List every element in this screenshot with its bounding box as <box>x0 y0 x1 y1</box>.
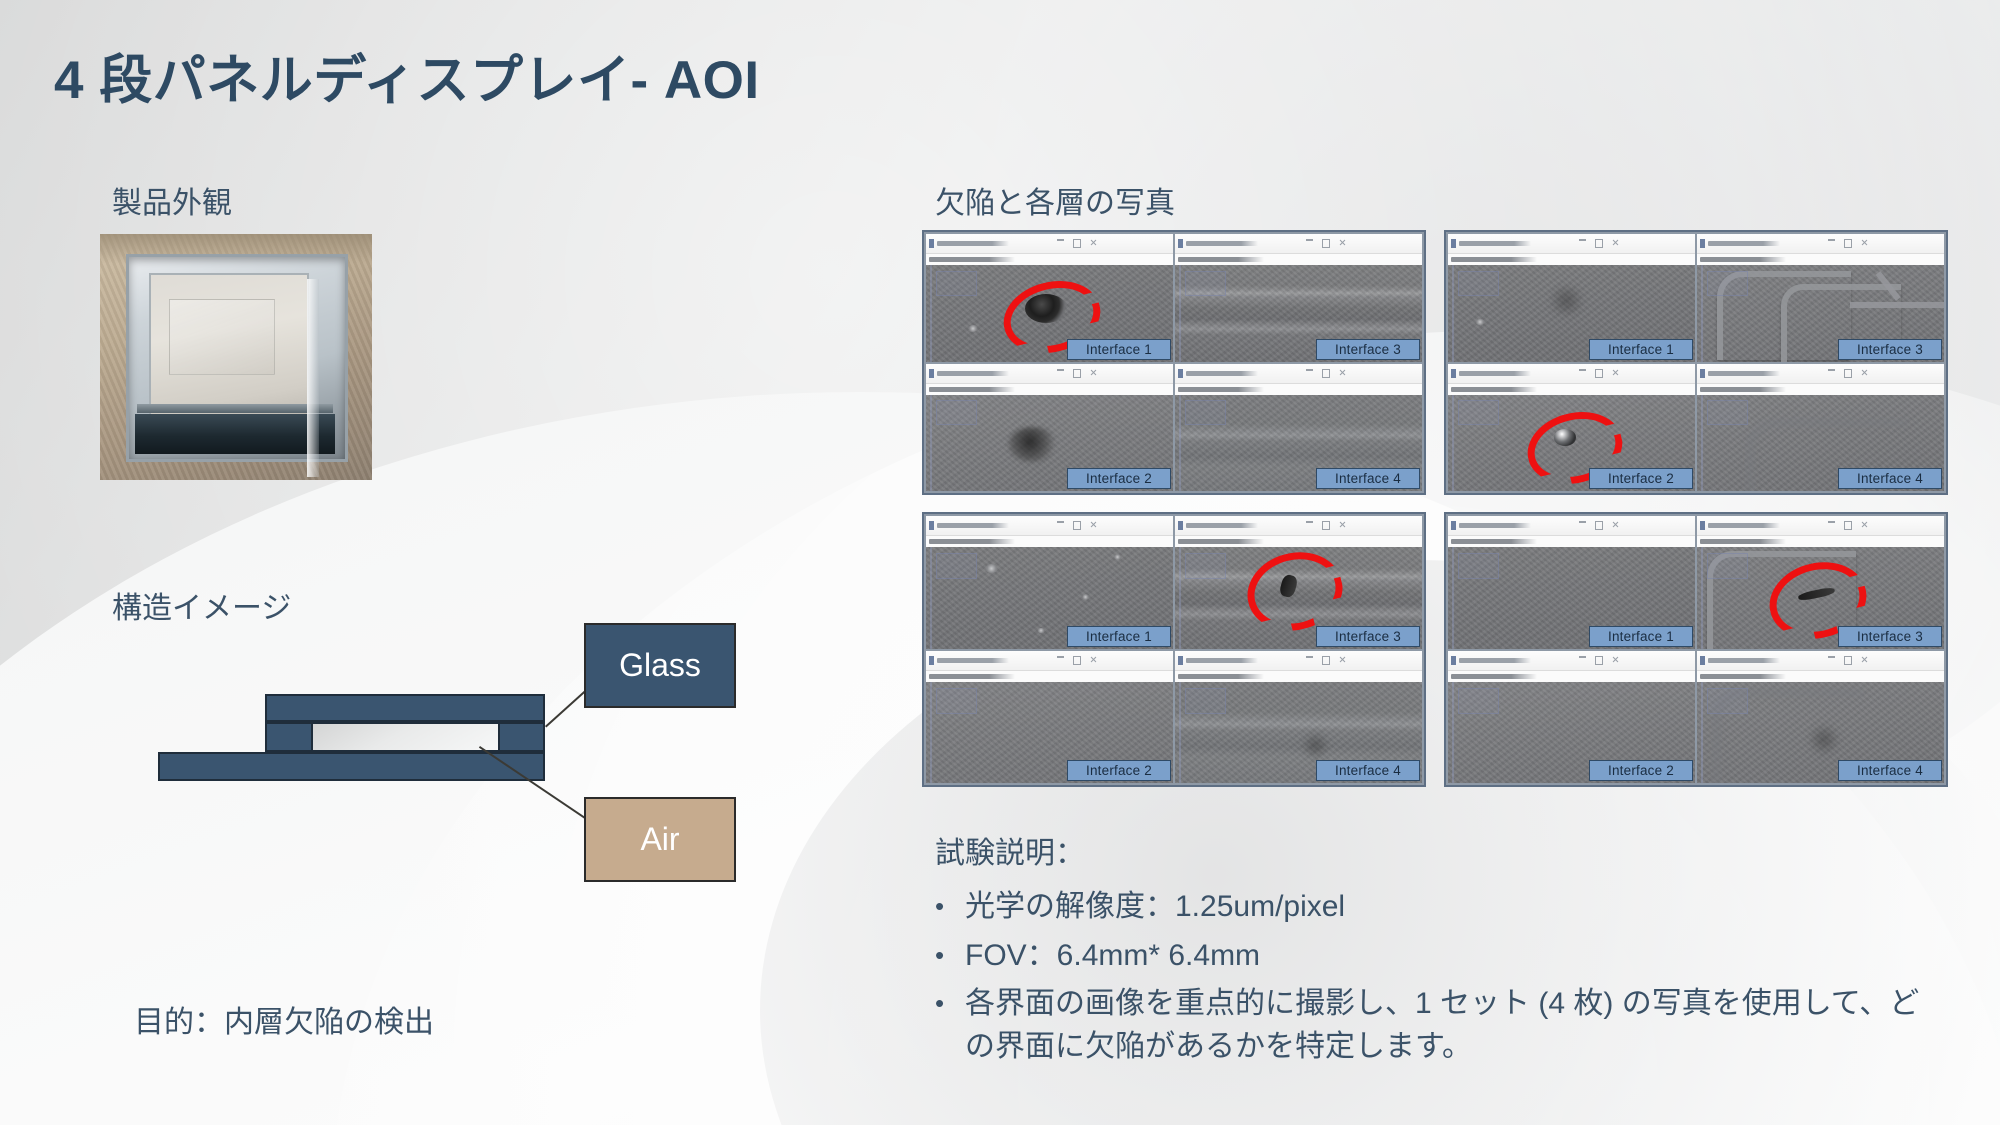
window-controls[interactable] <box>1057 656 1097 665</box>
maximize-icon[interactable] <box>1844 369 1852 378</box>
window-title-text <box>1186 241 1306 246</box>
microscope-window-2-2[interactable]: Interface 2 <box>1448 364 1695 492</box>
interface-tag: Interface 1 <box>1589 626 1693 647</box>
minimize-icon[interactable] <box>1579 239 1586 241</box>
status-text <box>1178 539 1264 544</box>
image-corner-marker <box>1707 688 1749 714</box>
image-left-edge-line <box>1452 682 1454 784</box>
status-text <box>929 674 1015 679</box>
image-left-edge-line <box>1452 265 1454 362</box>
image-left-edge-line <box>1179 682 1181 784</box>
window-title-text <box>937 241 1057 246</box>
image-left-edge-line <box>1701 395 1703 492</box>
window-title-text <box>1708 523 1828 528</box>
window-title-text <box>1459 658 1579 663</box>
window-titlebar <box>1697 364 1944 384</box>
structure-cross-section-diagram <box>150 690 600 825</box>
close-icon[interactable] <box>1339 656 1346 663</box>
maximize-icon[interactable] <box>1844 656 1852 665</box>
window-title-text <box>1708 241 1828 246</box>
status-text <box>1178 387 1264 392</box>
window-titlebar <box>1175 516 1422 536</box>
status-text <box>1451 387 1537 392</box>
bullet-marker: • <box>935 935 965 975</box>
window-app-icon <box>929 656 934 665</box>
minimize-icon[interactable] <box>1306 521 1313 523</box>
image-left-edge-line <box>930 682 932 784</box>
minimize-icon[interactable] <box>1306 369 1313 371</box>
window-app-icon <box>1700 656 1705 665</box>
defect-faint-shadow <box>1303 730 1328 760</box>
structure-layer-top-glass <box>265 694 545 722</box>
window-controls[interactable] <box>1579 369 1619 378</box>
image-corner-marker <box>1185 271 1227 296</box>
image-corner-marker <box>936 271 978 296</box>
microscope-window-1-2[interactable]: Interface 2 <box>926 364 1173 492</box>
legend-air-label: Air <box>640 821 679 858</box>
image-left-edge-line <box>1179 265 1181 362</box>
interface-tag: Interface 4 <box>1838 760 1942 781</box>
minimize-icon[interactable] <box>1579 656 1586 658</box>
interface-tag: Interface 3 <box>1838 339 1942 360</box>
interface-tag: Interface 3 <box>1316 626 1420 647</box>
window-app-icon <box>1178 521 1183 530</box>
status-text <box>1451 257 1537 262</box>
image-left-edge-line <box>1452 547 1454 649</box>
window-app-icon <box>1700 239 1705 248</box>
bullet-marker: • <box>935 886 965 926</box>
defect-speck <box>1475 319 1485 325</box>
image-corner-marker <box>936 688 978 714</box>
window-titlebar <box>1175 364 1422 384</box>
structure-layer-left-pillar <box>265 722 313 752</box>
maximize-icon[interactable] <box>1073 369 1081 378</box>
window-controls[interactable] <box>1828 239 1868 248</box>
bullet-text: 各界面の画像を重点的に撮影し、1 セット (4 枚) の写真を使用して、どの界面… <box>965 983 1945 1068</box>
description-heading: 試験説明： <box>935 828 1945 872</box>
microscope-window-4-1[interactable]: Interface 1 <box>1448 516 1695 649</box>
image-corner-marker <box>936 400 978 425</box>
image-left-edge-line <box>930 395 932 492</box>
status-text <box>1700 257 1786 262</box>
window-controls[interactable] <box>1828 521 1868 530</box>
window-controls[interactable] <box>1828 369 1868 378</box>
display-panel-edge-strip <box>137 404 333 413</box>
window-titlebar <box>926 516 1173 536</box>
minimize-icon[interactable] <box>1057 656 1064 658</box>
close-icon[interactable] <box>1339 369 1346 376</box>
interface-tag: Interface 2 <box>1067 760 1171 781</box>
test-description-block: 試験説明： • 光学の解像度：1.25um/pixel • FOV：6.4mm*… <box>935 828 1945 1074</box>
status-text <box>1700 387 1786 392</box>
product-appearance-photo <box>100 234 372 480</box>
status-text <box>929 257 1015 262</box>
window-titlebar <box>1448 364 1695 384</box>
window-title-text <box>1186 523 1306 528</box>
page-title: 4 段パネルディスプレイ- AOI <box>54 38 1154 114</box>
slide-canvas: 4 段パネルディスプレイ- AOI 製品外観 構造イメージ Glass Air … <box>0 0 2000 1125</box>
interface-tag: Interface 4 <box>1316 468 1420 489</box>
close-icon[interactable] <box>1339 521 1346 528</box>
close-icon[interactable] <box>1090 369 1097 376</box>
status-text <box>1178 257 1264 262</box>
photo-quad-1[interactable]: Interface 1 Interface 3 <box>922 230 1426 495</box>
interface-tag: Interface 2 <box>1589 468 1693 489</box>
microscope-window-1-1[interactable]: Interface 1 <box>926 234 1173 362</box>
window-app-icon <box>1451 369 1456 378</box>
image-left-edge-line <box>1179 547 1181 649</box>
close-icon[interactable] <box>1090 239 1097 246</box>
bullet-text: FOV：6.4mm* 6.4mm <box>965 935 1945 978</box>
window-title-text <box>937 523 1057 528</box>
window-title-text <box>1186 371 1306 376</box>
image-corner-marker <box>1707 400 1749 425</box>
image-corner-marker <box>1707 271 1749 296</box>
bullet-text: 光学の解像度：1.25um/pixel <box>965 886 1945 929</box>
maximize-icon[interactable] <box>1073 656 1081 665</box>
window-title-text <box>937 371 1057 376</box>
window-app-icon <box>929 239 934 248</box>
status-text <box>929 387 1015 392</box>
microscope-window-3-2[interactable]: Interface 2 <box>926 651 1173 784</box>
image-corner-marker <box>1185 400 1227 425</box>
window-titlebar <box>1448 516 1695 536</box>
window-controls[interactable] <box>1057 521 1097 530</box>
window-titlebar <box>1697 234 1944 254</box>
status-text <box>1451 674 1537 679</box>
structure-image-label: 構造イメージ <box>112 583 291 627</box>
image-left-edge-line <box>1701 682 1703 784</box>
maximize-icon[interactable] <box>1844 239 1852 248</box>
interface-tag: Interface 1 <box>1067 626 1171 647</box>
window-title-text <box>937 658 1057 663</box>
minimize-icon[interactable] <box>1828 521 1835 523</box>
photo-quad-2[interactable]: Interface 1 Inte <box>1444 230 1948 495</box>
microscope-window-2-4[interactable]: Interface 4 <box>1697 364 1944 492</box>
status-text <box>1178 674 1264 679</box>
window-app-icon <box>1178 369 1183 378</box>
maximize-icon[interactable] <box>1322 656 1330 665</box>
window-app-icon <box>1700 521 1705 530</box>
status-text <box>929 539 1015 544</box>
microscope-window-1-3[interactable]: Interface 3 <box>1175 234 1422 362</box>
minimize-icon[interactable] <box>1057 239 1064 241</box>
image-left-edge-line <box>1179 395 1181 492</box>
structure-layer-bottom-glass <box>158 752 545 781</box>
window-title-text <box>1459 241 1579 246</box>
window-app-icon <box>1178 656 1183 665</box>
maximize-icon[interactable] <box>1595 369 1603 378</box>
defect-photos-label: 欠陥と各層の写真 <box>935 178 1175 222</box>
close-icon[interactable] <box>1339 239 1346 246</box>
microscope-window-3-1[interactable]: Interface 1 <box>926 516 1173 649</box>
window-app-icon <box>929 521 934 530</box>
window-app-icon <box>1451 656 1456 665</box>
status-text <box>1451 539 1537 544</box>
maximize-icon[interactable] <box>1844 521 1852 530</box>
window-title-text <box>1708 371 1828 376</box>
minimize-icon[interactable] <box>1306 656 1313 658</box>
window-app-icon <box>1451 239 1456 248</box>
maximize-icon[interactable] <box>1322 239 1330 248</box>
microscope-window-2-1[interactable]: Interface 1 <box>1448 234 1695 362</box>
interface-tag: Interface 1 <box>1589 339 1693 360</box>
defect-speck <box>968 325 978 332</box>
window-app-icon <box>1178 239 1183 248</box>
image-corner-marker <box>1458 271 1500 296</box>
maximize-icon[interactable] <box>1073 239 1081 248</box>
interface-tag: Interface 3 <box>1316 339 1420 360</box>
microscope-window-1-4[interactable]: Interface 4 <box>1175 364 1422 492</box>
interface-tag: Interface 2 <box>1589 760 1693 781</box>
description-bullet-3: • 各界面の画像を重点的に撮影し、1 セット (4 枚) の写真を使用して、どの… <box>935 983 1945 1068</box>
product-appearance-label: 製品外観 <box>112 178 232 222</box>
display-panel-inner-highlight <box>169 299 275 375</box>
microscope-window-2-3[interactable]: Interface 3 <box>1697 234 1944 362</box>
minimize-icon[interactable] <box>1306 239 1313 241</box>
image-corner-marker <box>1707 553 1749 579</box>
window-controls[interactable] <box>1057 369 1097 378</box>
maximize-icon[interactable] <box>1322 369 1330 378</box>
interface-tag: Interface 4 <box>1838 468 1942 489</box>
window-controls[interactable] <box>1579 521 1619 530</box>
interface-tag: Interface 3 <box>1838 626 1942 647</box>
window-titlebar <box>1697 651 1944 671</box>
minimize-icon[interactable] <box>1057 369 1064 371</box>
close-icon[interactable] <box>1861 369 1868 376</box>
window-controls[interactable] <box>1579 656 1619 665</box>
microscope-window-4-2[interactable]: Interface 2 <box>1448 651 1695 784</box>
window-titlebar <box>926 651 1173 671</box>
image-corner-marker <box>936 553 978 579</box>
image-left-edge-line <box>1701 547 1703 649</box>
image-corner-marker <box>1185 553 1227 579</box>
window-app-icon <box>929 369 934 378</box>
window-titlebar <box>1175 234 1422 254</box>
window-titlebar <box>926 364 1173 384</box>
description-bullet-1: • 光学の解像度：1.25um/pixel <box>935 886 1945 929</box>
microscope-window-4-3[interactable]: Interface 3 <box>1697 516 1944 649</box>
status-text <box>1700 539 1786 544</box>
close-icon[interactable] <box>1861 239 1868 246</box>
window-titlebar <box>1448 651 1695 671</box>
image-corner-marker <box>1185 688 1227 714</box>
description-bullet-2: • FOV：6.4mm* 6.4mm <box>935 935 1945 978</box>
maximize-icon[interactable] <box>1595 239 1603 248</box>
microscope-window-4-4[interactable]: Interface 4 <box>1697 651 1944 784</box>
maximize-icon[interactable] <box>1595 656 1603 665</box>
window-controls[interactable] <box>1306 239 1346 248</box>
status-text <box>1700 674 1786 679</box>
legend-glass-box: Glass <box>584 623 736 708</box>
window-titlebar <box>1175 651 1422 671</box>
image-corner-marker <box>1458 400 1500 425</box>
microscope-window-3-4[interactable]: Interface 4 <box>1175 651 1422 784</box>
minimize-icon[interactable] <box>1828 656 1835 658</box>
legend-air-box: Air <box>584 797 736 882</box>
window-title-text <box>1186 658 1306 663</box>
interface-tag: Interface 1 <box>1067 339 1171 360</box>
minimize-icon[interactable] <box>1828 239 1835 241</box>
window-title-text <box>1459 523 1579 528</box>
goal-statement: 目的：内層欠陥の検出 <box>134 997 434 1041</box>
window-controls[interactable] <box>1306 521 1346 530</box>
close-icon[interactable] <box>1612 521 1619 528</box>
window-controls[interactable] <box>1579 239 1619 248</box>
structure-layer-air-gap <box>313 722 498 752</box>
close-icon[interactable] <box>1090 656 1097 663</box>
close-icon[interactable] <box>1612 239 1619 246</box>
circuit-trace-horizontal <box>1850 302 1944 308</box>
maximize-icon[interactable] <box>1322 521 1330 530</box>
defect-faint-shadow <box>1808 724 1840 754</box>
display-panel-dark-base <box>135 414 335 454</box>
bullet-marker: • <box>935 983 965 1023</box>
window-controls[interactable] <box>1828 656 1868 665</box>
window-titlebar <box>926 234 1173 254</box>
defect-speck <box>1037 628 1044 633</box>
image-left-edge-line <box>1452 395 1454 492</box>
window-app-icon <box>1451 521 1456 530</box>
window-title-text <box>1708 658 1828 663</box>
image-corner-marker <box>1458 688 1500 714</box>
legend-glass-label: Glass <box>619 647 701 684</box>
image-corner-marker <box>1458 553 1500 579</box>
minimize-icon[interactable] <box>1057 521 1064 523</box>
close-icon[interactable] <box>1090 521 1097 528</box>
display-panel-right-reflection <box>307 279 319 477</box>
interface-tag: Interface 2 <box>1067 468 1171 489</box>
window-titlebar <box>1448 234 1695 254</box>
structure-layer-right-pillar <box>498 722 545 752</box>
close-icon[interactable] <box>1612 369 1619 376</box>
window-controls[interactable] <box>1306 369 1346 378</box>
photo-quad-3[interactable]: Interface 1 Interface 3 <box>922 512 1426 787</box>
image-left-edge-line <box>1701 265 1703 362</box>
minimize-icon[interactable] <box>1828 369 1835 371</box>
photo-quad-4[interactable]: Interface 1 Interface 3 <box>1444 512 1948 787</box>
maximize-icon[interactable] <box>1073 521 1081 530</box>
microscope-window-3-3[interactable]: Interface 3 <box>1175 516 1422 649</box>
close-icon[interactable] <box>1612 656 1619 663</box>
minimize-icon[interactable] <box>1579 369 1586 371</box>
interface-tag: Interface 4 <box>1316 760 1420 781</box>
window-title-text <box>1459 371 1579 376</box>
maximize-icon[interactable] <box>1595 521 1603 530</box>
window-app-icon <box>1700 369 1705 378</box>
display-panel-body <box>126 254 348 462</box>
close-icon[interactable] <box>1861 656 1868 663</box>
defect-shadow <box>1008 427 1057 462</box>
window-controls[interactable] <box>1306 656 1346 665</box>
defect-speck <box>1082 594 1089 600</box>
window-controls[interactable] <box>1057 239 1097 248</box>
image-left-edge-line <box>930 547 932 649</box>
minimize-icon[interactable] <box>1579 521 1586 523</box>
close-icon[interactable] <box>1861 521 1868 528</box>
window-titlebar <box>1697 516 1944 536</box>
image-left-edge-line <box>930 265 932 362</box>
